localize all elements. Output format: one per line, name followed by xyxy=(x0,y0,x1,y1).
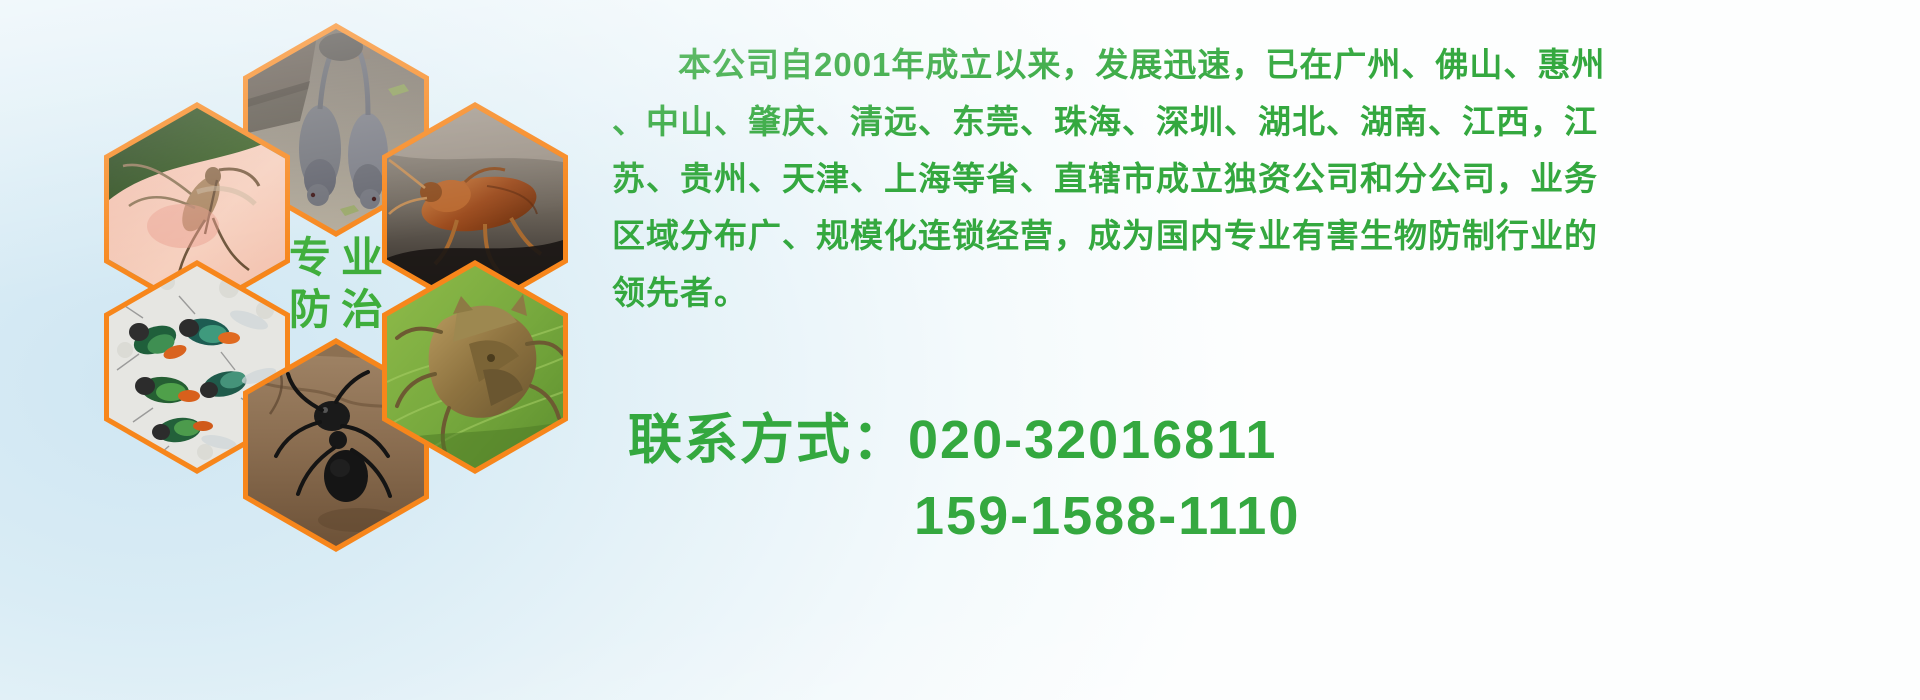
contact-phone-secondary[interactable]: 159-1588-1110 xyxy=(628,478,1300,554)
slogan-line-2: 防治 xyxy=(279,289,393,331)
description-line-1: 本公司自2001年成立以来，发展迅速，已在广州、佛山、惠州 xyxy=(612,36,1902,93)
description-line-2: 、中山、肇庆、清远、东莞、珠海、深圳、湖北、湖南、江西，江 xyxy=(612,93,1902,150)
contact-phone-primary[interactable]: 联系方式：020-32016811 xyxy=(628,402,1300,478)
description-line-3: 苏、贵州、天津、上海等省、直辖市成立独资公司和分公司，业务 xyxy=(612,150,1902,207)
slogan-line-1: 专业 xyxy=(279,237,393,279)
honeycomb-gallery: 专业 防治 xyxy=(96,14,576,554)
company-description: 本公司自2001年成立以来，发展迅速，已在广州、佛山、惠州 、中山、肇庆、清远、… xyxy=(612,36,1902,321)
contact-block: 联系方式：020-32016811 159-1588-1110 xyxy=(628,402,1300,554)
promo-banner: 专业 防治 本公司自2001年成立以来，发展迅速，已在广州、佛山、惠州 、中山、… xyxy=(0,0,1920,700)
description-line-5: 领先者。 xyxy=(612,264,1902,321)
description-text-1: 本公司自2001年成立以来，发展迅速，已在广州、佛山、惠州 xyxy=(678,46,1605,83)
description-line-4: 区域分布广、规模化连锁经营，成为国内专业有害生物防制行业的 xyxy=(612,207,1902,264)
